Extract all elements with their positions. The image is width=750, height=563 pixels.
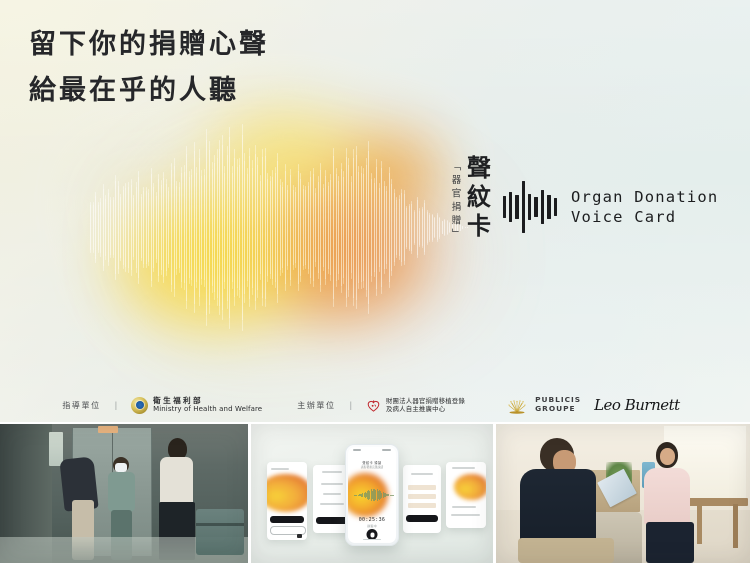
torsc-name-line-2: 及病人自主推廣中心 <box>386 405 465 413</box>
waiting-chairs <box>196 509 244 555</box>
partner-logo-row: 指導單位 | 衛生福利部 Ministry of Health and Welf… <box>0 396 750 414</box>
brand-lockup: 「器官捐贈」 聲紋卡 Organ Donation Voice Card <box>450 152 718 262</box>
woman-body-2 <box>644 468 690 524</box>
mohw-emblem-icon <box>131 397 148 414</box>
lockup-vertical-title: 聲紋卡 <box>465 155 489 259</box>
mohw-name-en: Ministry of Health and Welfare <box>153 405 262 414</box>
mohw-name: 衛生福利部 Ministry of Health and Welfare <box>153 396 262 414</box>
app-waveform-bars <box>354 487 394 503</box>
face-mask-icon <box>115 463 127 472</box>
woman-body <box>160 457 193 505</box>
publicis-name: PUBLICIS GROUPE <box>535 396 581 413</box>
woman-face-2 <box>660 448 675 465</box>
page-title: 留下你的捐贈心聲 給最在乎的人聽 <box>29 22 269 114</box>
living-room-interview-scene <box>496 424 750 563</box>
woman-skirt-2 <box>646 522 694 563</box>
partner-mohw: 衛生福利部 Ministry of Health and Welfare <box>131 396 262 414</box>
publicis-sheaf-icon <box>504 397 530 414</box>
partner-publicis: PUBLICIS GROUPE <box>504 396 581 413</box>
man-legs <box>518 538 614 563</box>
recording-status-label: 錄製中 <box>348 524 396 528</box>
headline-line-2: 給最在乎的人聽 <box>29 68 269 114</box>
leo-burnett-signature-icon: Leo Burnett <box>594 396 688 414</box>
lockup-vertical-subtitle: 「器官捐贈」 <box>450 161 460 253</box>
app-screen-subtitle: 請對著麥克風說話 <box>348 465 396 469</box>
gallery-strip: 聲紋卡 錄製 請對著麥克風說話 00:25:36 錄製中 <box>0 424 750 563</box>
app-screen-4 <box>403 465 441 533</box>
organizer-label: 主辦單位 <box>297 400 335 411</box>
waveform-bars-secondary <box>90 140 470 315</box>
app-screen-3-primary: 聲紋卡 錄製 請對著麥克風說話 00:25:36 錄製中 <box>345 444 399 546</box>
torsc-name: 財團法人器官捐贈移植登錄 及病人自主推廣中心 <box>386 397 465 413</box>
app-screen-1 <box>267 462 307 540</box>
lockup-english-name: Organ Donation Voice Card <box>571 187 718 227</box>
hospital-corridor-image <box>0 424 248 563</box>
exit-sign-icon <box>98 426 118 433</box>
mohw-name-cn: 衛生福利部 <box>153 396 262 405</box>
torsc-name-line-1: 財團法人器官捐贈移植登錄 <box>386 397 465 405</box>
lockup-english-line-1: Organ Donation <box>571 187 718 207</box>
nurse-body <box>108 472 135 512</box>
man-body <box>520 469 596 541</box>
app-screens-mockup: 聲紋卡 錄製 請對著麥克風說話 00:25:36 錄製中 <box>251 424 493 563</box>
headline-line-1: 留下你的捐贈心聲 <box>29 22 269 68</box>
phone-screen: 聲紋卡 錄製 請對著麥克風說話 00:25:36 錄製中 <box>348 447 396 543</box>
publicis-line-2: GROUPE <box>535 405 581 414</box>
status-bar <box>348 449 396 453</box>
lockup-english-line-2: Voice Card <box>571 207 718 227</box>
hero-section: 留下你的捐贈心聲 給最在乎的人聽 「器官捐贈」 聲紋卡 Organ Donati… <box>0 0 750 422</box>
torsc-heart-icon <box>366 398 381 413</box>
divider-2: | <box>350 400 352 410</box>
app-screen-5 <box>446 462 486 528</box>
hospital-corridor-scene <box>0 424 248 563</box>
app-screen-group: 聲紋卡 錄製 請對著麥克風說話 00:25:36 錄製中 <box>251 424 493 563</box>
table-leg-1 <box>733 504 738 548</box>
recording-timer: 00:25:36 <box>348 517 396 523</box>
living-room-image <box>496 424 750 563</box>
voice-waveform-icon <box>503 181 558 233</box>
table-leg-2 <box>697 504 702 544</box>
partner-torsc: 財團法人器官捐贈移植登錄 及病人自主推廣中心 <box>366 397 465 413</box>
campaign-key-visual-page: 留下你的捐贈心聲 給最在乎的人聽 「器官捐贈」 聲紋卡 Organ Donati… <box>0 0 750 563</box>
divider-1: | <box>115 400 117 410</box>
corridor-poster <box>49 432 63 466</box>
advisor-label: 指導單位 <box>62 400 100 411</box>
